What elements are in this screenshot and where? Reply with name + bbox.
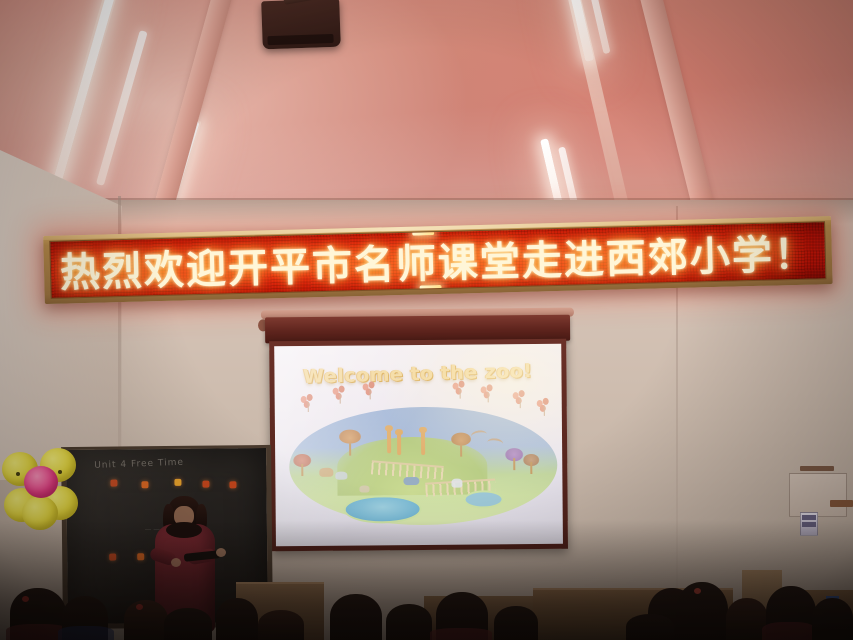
slide-title: Welcome to the zoo! xyxy=(274,359,561,389)
wall-bracket xyxy=(830,500,853,507)
tree xyxy=(293,454,311,476)
giraffe xyxy=(421,431,425,455)
student-silhouette xyxy=(626,614,674,640)
balloon-knot xyxy=(58,470,62,474)
banner-glint xyxy=(412,231,434,236)
student-silhouette xyxy=(124,600,168,640)
hair-accessory xyxy=(22,596,29,602)
zoo-animal xyxy=(359,485,369,492)
palm-tree xyxy=(451,433,471,457)
giraffe xyxy=(387,429,391,453)
student-silhouette xyxy=(164,608,212,640)
balloon-knot xyxy=(16,472,20,476)
student-clothing xyxy=(762,622,816,640)
classroom-photo: 热烈欢迎开平市名师课堂走进西郊小学！ Welcome to the zoo! xyxy=(0,0,853,640)
slide-balloon-cluster xyxy=(301,394,317,414)
hair-accessory xyxy=(694,588,701,594)
zoo-animal xyxy=(319,468,333,477)
banner-glint xyxy=(420,285,442,290)
slide-balloon-cluster xyxy=(363,381,379,401)
student-silhouette xyxy=(676,582,728,640)
student-silhouette xyxy=(386,604,432,640)
slide-balloon-cluster xyxy=(333,386,349,406)
teacher-collar xyxy=(166,522,202,538)
bird xyxy=(487,438,504,449)
slide-balloon-cluster xyxy=(537,398,553,418)
cabinet-lip xyxy=(800,466,834,471)
student-silhouette xyxy=(258,610,304,640)
tree xyxy=(523,454,539,474)
balloon-petal xyxy=(22,496,58,530)
cabinet-label xyxy=(800,512,818,536)
balloon-flower-decoration xyxy=(2,446,82,528)
wall-cabinet[interactable] xyxy=(789,473,847,517)
giraffe xyxy=(397,433,401,455)
hair-accessory xyxy=(136,604,143,610)
ceiling-projector xyxy=(261,0,341,49)
palm-tree xyxy=(339,430,361,456)
student-silhouette xyxy=(330,594,382,640)
student-clothing xyxy=(430,628,492,640)
student-silhouette xyxy=(216,598,258,640)
student-silhouette xyxy=(494,606,538,640)
student-clothing xyxy=(58,626,114,640)
projection-surface: Welcome to the zoo! xyxy=(274,344,563,546)
student-silhouette xyxy=(812,598,853,640)
zoo-animal xyxy=(335,472,347,480)
balloon-center xyxy=(24,466,58,498)
left-wall xyxy=(0,150,122,480)
projection-screen-assembly: Welcome to the zoo! xyxy=(265,315,572,556)
tree xyxy=(505,448,523,470)
slide-balloon-cluster xyxy=(513,390,529,410)
teacher-hand-left xyxy=(171,558,181,567)
teacher-hand-right xyxy=(216,548,226,557)
zoo-animal xyxy=(451,479,462,488)
slide-balloon-cluster xyxy=(481,384,497,404)
zoo-enclosure xyxy=(403,477,419,485)
slide-balloon-cluster xyxy=(453,381,469,401)
screen-frame: Welcome to the zoo! xyxy=(269,339,568,552)
